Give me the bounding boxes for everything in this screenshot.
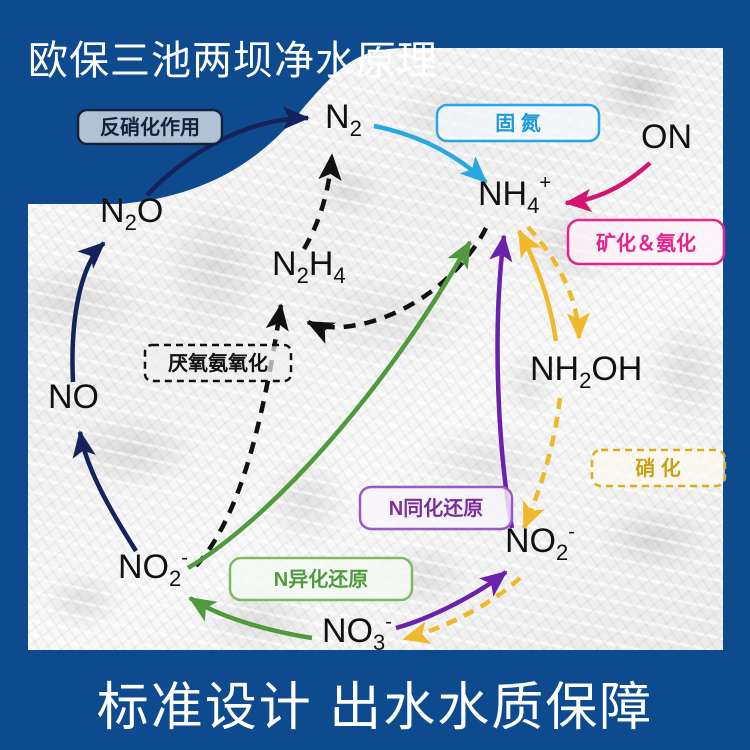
edge-no2r-to-nh4 <box>498 236 512 528</box>
footer-text: 标准设计 出水水质保障 <box>97 665 653 740</box>
tag-assimilatory-reduction: N同化还原 <box>360 487 512 529</box>
tag-denitrification: 反硝化作用 <box>78 110 222 144</box>
species-no3: NO3- <box>322 611 392 655</box>
species-no2-right: NO2- <box>505 521 575 565</box>
tag-nitrogen-fixation-label: 固 氮 <box>495 111 541 135</box>
species-on: ON <box>641 118 692 156</box>
tag-nitrogen-fixation: 固 氮 <box>437 105 599 141</box>
tag-mineralization-label: 矿化＆氨化 <box>596 231 696 255</box>
nitrogen-cycle-diagram: N2 N2O N2H4 NO NO2- NO3- NO2- NH2OH NH4+… <box>0 0 750 750</box>
tag-denitrification-label: 反硝化作用 <box>100 115 200 139</box>
species-nh4: NH4+ <box>478 172 551 218</box>
edge-no-to-n2o <box>72 243 104 382</box>
species-n2h4: N2H4 <box>272 245 346 288</box>
tag-nitrification: 硝 化 <box>592 450 725 486</box>
edge-no3-to-no2l <box>190 598 312 638</box>
tag-assimilatory-reduction-label: N同化还原 <box>389 496 483 520</box>
edge-n2h4-to-n2 <box>304 155 332 249</box>
species-n2: N2 <box>325 98 362 141</box>
footer-banner: 标准设计 出水水质保障 <box>0 654 750 750</box>
species-n2o: N2O <box>100 192 163 235</box>
species-nh2oh: NH2OH <box>530 350 642 393</box>
species-no: NO <box>48 378 99 416</box>
poster-root: 欧保三池两坝净水原理 <box>0 0 750 750</box>
tag-anammox-label: 厌氧氨氧化 <box>168 351 268 375</box>
species-no2-left: NO2- <box>118 547 188 591</box>
tag-dissimilatory-reduction: N异化还原 <box>230 558 412 600</box>
edge-nh2oh-to-no2r <box>524 398 560 528</box>
tag-nitrification-label: 硝 化 <box>635 456 681 480</box>
edge-on-to-nh4 <box>566 163 650 203</box>
edge-no2l-to-no <box>80 432 136 551</box>
edge-nh2oh-to-nh4 <box>519 231 556 341</box>
tag-mineralization: 矿化＆氨化 <box>568 220 724 264</box>
tag-anammox: 厌氧氨氧化 <box>145 345 291 381</box>
tag-dissimilatory-reduction-label: N异化还原 <box>274 567 368 591</box>
edge-no2r-to-no3 <box>404 578 520 639</box>
